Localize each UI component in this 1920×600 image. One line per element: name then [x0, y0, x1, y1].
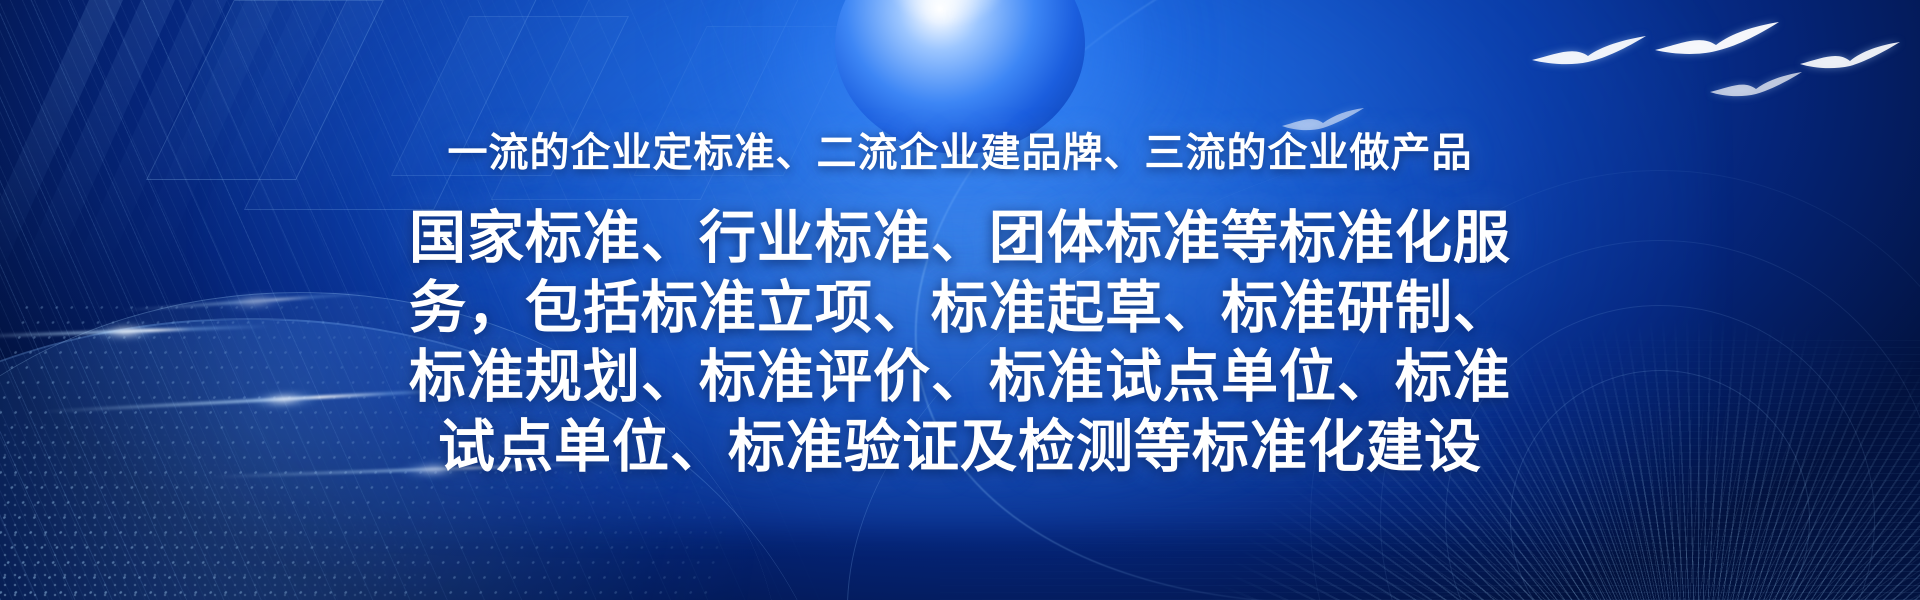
body-line: 国家标准、行业标准、团体标准等标准化服 — [409, 204, 1511, 274]
banner-body: 国家标准、行业标准、团体标准等标准化服 务，包括标准立项、标准起草、标准研制、 … — [409, 204, 1511, 482]
body-line: 试点单位、标准验证及检测等标准化建设 — [438, 413, 1482, 483]
banner-content: 一流的企业定标准、二流企业建品牌、三流的企业做产品 国家标准、行业标准、团体标准… — [0, 0, 1920, 600]
body-line: 务，包括标准立项、标准起草、标准研制、 — [409, 274, 1511, 344]
body-line: 标准规划、标准评价、标准试点单位、标准 — [409, 343, 1511, 413]
promotional-banner: 一流的企业定标准、二流企业建品牌、三流的企业做产品 国家标准、行业标准、团体标准… — [0, 0, 1920, 600]
banner-headline: 一流的企业定标准、二流企业建品牌、三流的企业做产品 — [448, 120, 1473, 178]
